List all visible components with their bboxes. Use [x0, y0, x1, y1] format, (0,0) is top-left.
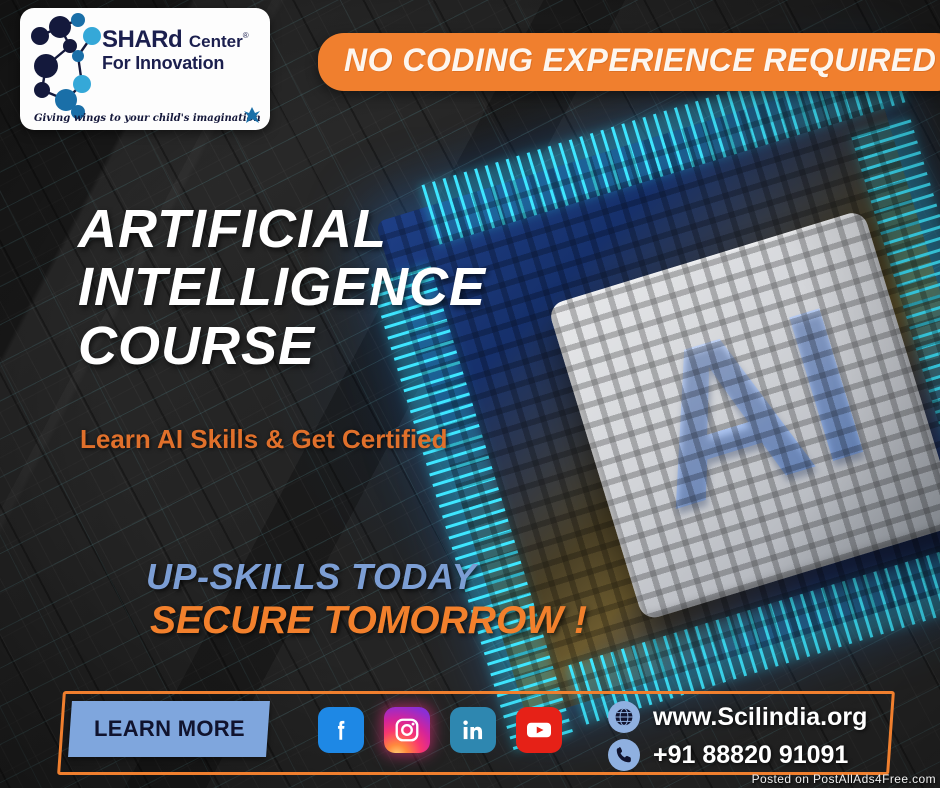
phone-icon [608, 739, 640, 771]
headline-line-3: COURSE [78, 320, 486, 372]
facebook-glyph [328, 717, 354, 743]
instagram-icon[interactable] [384, 707, 430, 753]
slogan-line-1: UP-SKILLS TODAY [146, 556, 476, 598]
logo-wordmark: SHARd Center® For Innovation [102, 28, 268, 75]
globe-icon [608, 701, 640, 733]
linkedin-glyph [460, 717, 486, 743]
linkedin-icon[interactable] [450, 707, 496, 753]
no-coding-banner: NO CODING EXPERIENCE REQUIRED [318, 33, 940, 91]
brand-logo-card[interactable]: SHARd Center® For Innovation Giving wing… [20, 8, 270, 130]
learn-more-button[interactable]: LEARN MORE [68, 701, 270, 757]
social-links [318, 707, 562, 753]
globe-glyph [613, 706, 635, 728]
instagram-glyph [393, 716, 421, 744]
logo-tagline: Giving wings to your child's imagination [34, 113, 260, 124]
logo-name-line2: For Innovation [102, 52, 268, 75]
bird-icon [244, 106, 260, 124]
headline-line-2: INTELLIGENCE [78, 261, 486, 313]
website-text: www.Scilindia.org [653, 703, 867, 732]
headline-line-1: ARTIFICIAL [78, 203, 486, 255]
watermark: Posted on PostAllAds4Free.com [752, 772, 936, 786]
network-nodes-icon [26, 12, 108, 120]
ai-course-promo-poster: AI [0, 0, 940, 788]
learn-more-label: LEARN MORE [94, 716, 245, 742]
website-row[interactable]: www.Scilindia.org [608, 698, 867, 736]
slogan-line-2: SECURE TOMORROW ! [150, 599, 587, 643]
headline-block: ARTIFICIAL INTELLIGENCE COURSE [78, 203, 486, 372]
contact-block: www.Scilindia.org +91 88820 91091 [608, 698, 867, 774]
logo-name-sub: Center [189, 32, 243, 51]
subheadline: Learn AI Skills & Get Certified [80, 424, 447, 455]
youtube-glyph [524, 715, 554, 745]
phone-text: +91 88820 91091 [653, 741, 848, 770]
registered-mark-icon: ® [243, 31, 249, 40]
phone-glyph [614, 745, 634, 765]
banner-text: NO CODING EXPERIENCE REQUIRED [344, 42, 936, 79]
phone-row[interactable]: +91 88820 91091 [608, 736, 867, 774]
facebook-icon[interactable] [318, 707, 364, 753]
youtube-icon[interactable] [516, 707, 562, 753]
logo-name-main: SHARd [102, 26, 182, 53]
